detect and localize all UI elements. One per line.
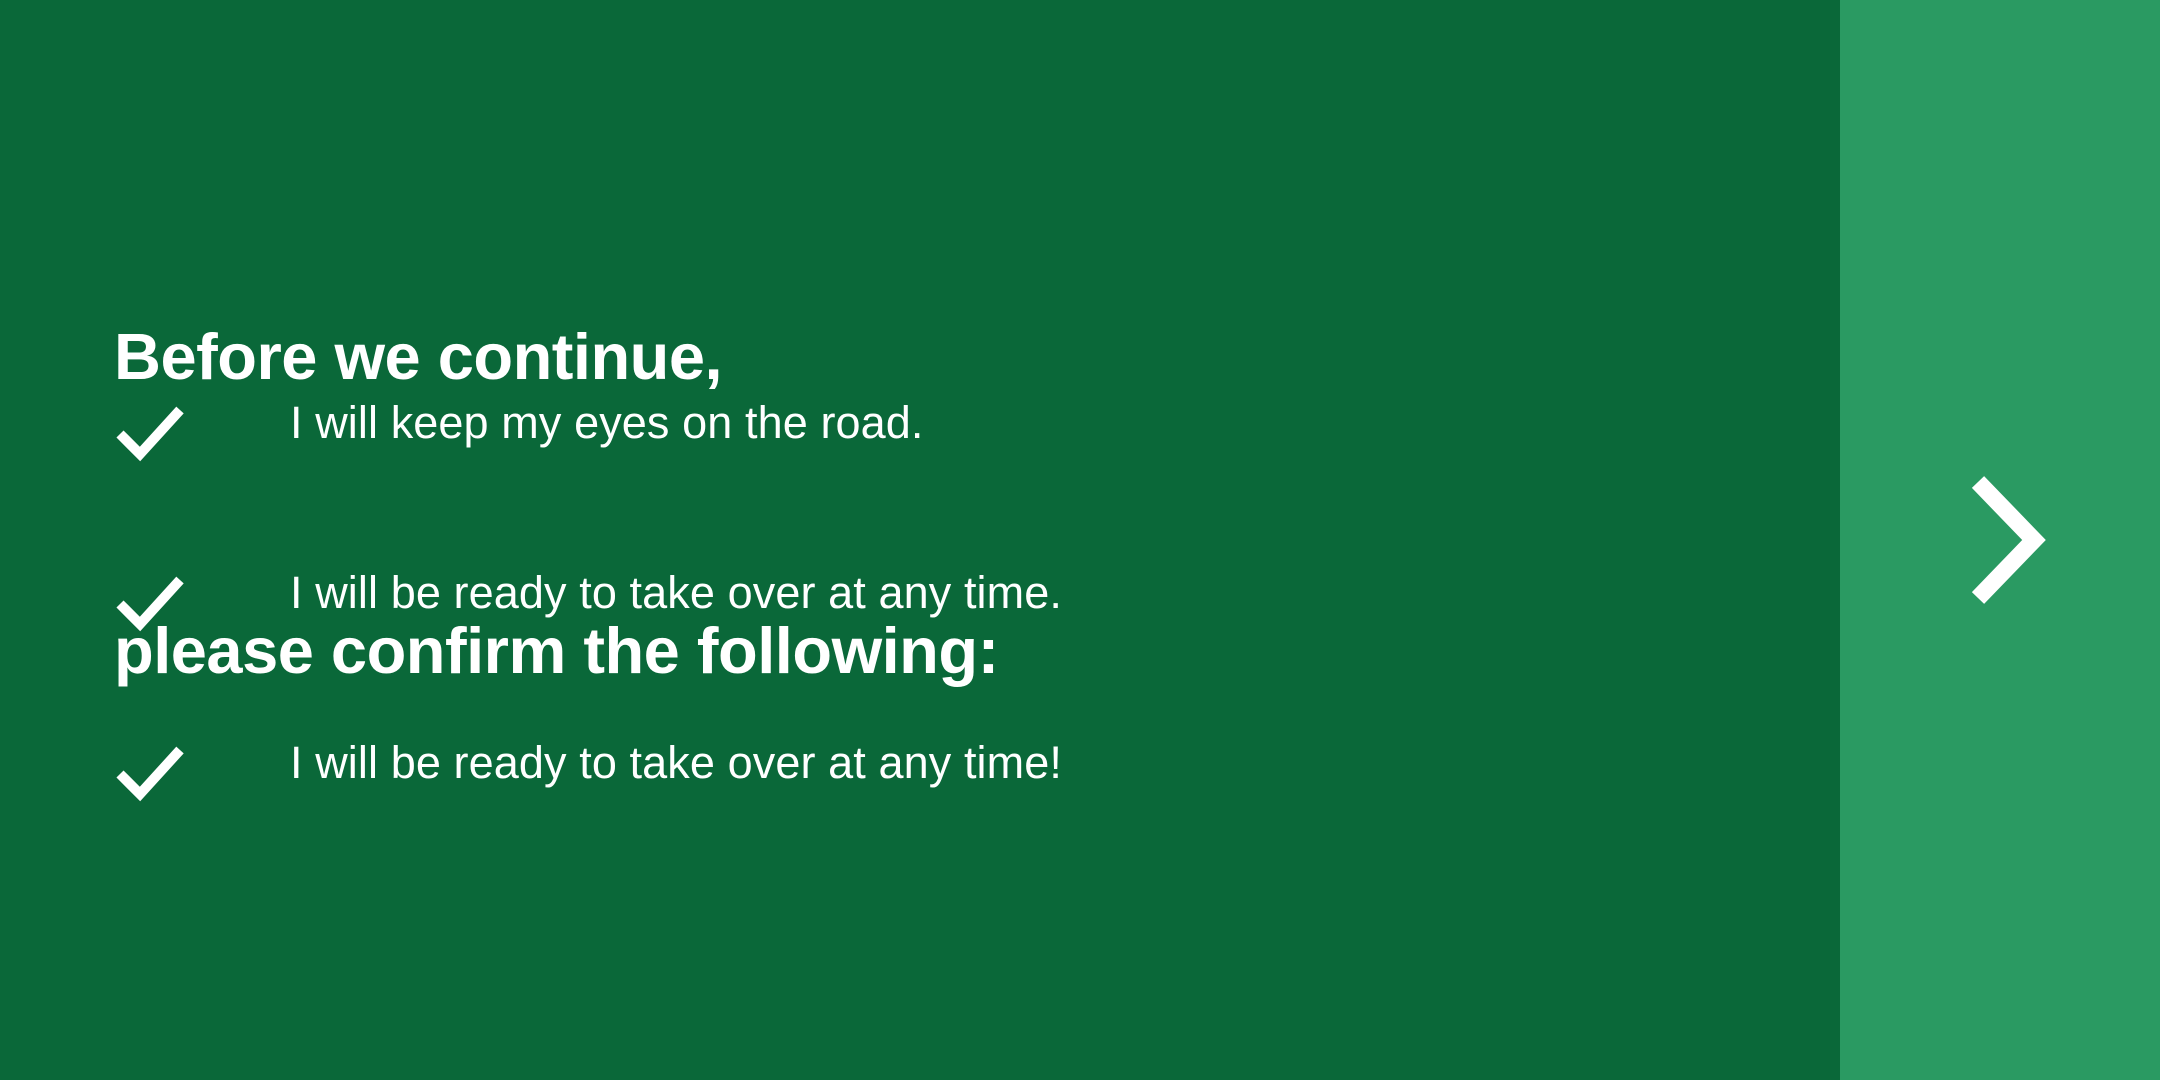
checkmark-icon [114,736,186,808]
confirmation-screen: Before we continue, please confirm the f… [0,0,2160,1080]
checkmark-icon [114,566,186,638]
checklist-item-label: I will be ready to take over at any time… [290,558,1062,628]
checklist-item[interactable]: I will be ready to take over at any time… [114,558,1714,728]
chevron-right-icon[interactable] [1958,470,2054,610]
confirmation-checklist: I will keep my eyes on the road. I will … [114,388,1714,898]
checklist-item[interactable]: I will keep my eyes on the road. [114,388,1714,558]
next-button[interactable] [1840,0,2160,1080]
checklist-item-label: I will be ready to take over at any time… [290,728,1062,798]
main-panel: Before we continue, please confirm the f… [0,0,1840,1080]
checkmark-icon [114,396,186,468]
checklist-item-label: I will keep my eyes on the road. [290,388,924,458]
checklist-item[interactable]: I will be ready to take over at any time… [114,728,1714,898]
